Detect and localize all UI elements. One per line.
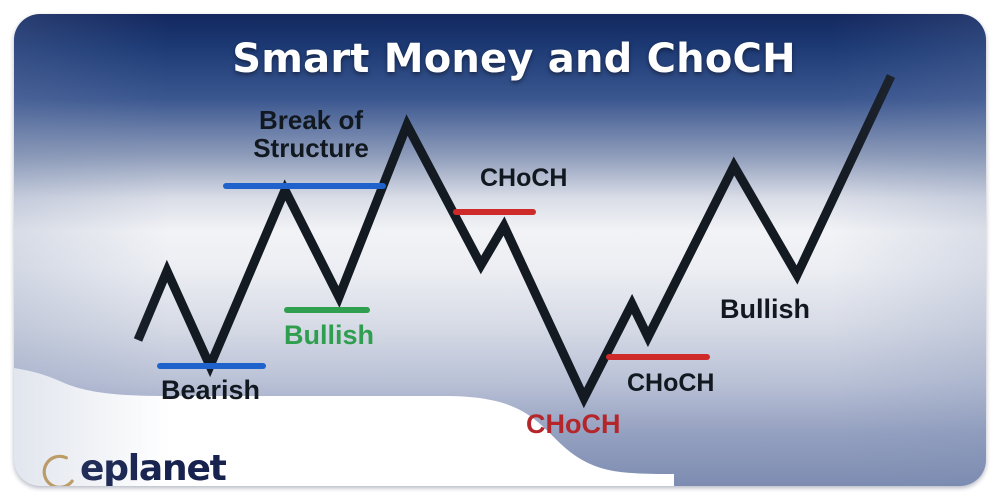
label-choch-1: CHoCH <box>480 165 568 192</box>
label-bullish-green: Bullish <box>284 321 374 350</box>
page-title: Smart Money and ChoCH <box>14 36 986 82</box>
label-bearish: Bearish <box>161 376 260 405</box>
label-choch-3: CHoCH <box>627 370 715 397</box>
label-break-of-structure: Break of Structure <box>236 107 386 162</box>
eplanet-wordmark: eplanet <box>80 448 226 486</box>
label-break-of-structure-line1: Break of <box>259 105 363 135</box>
structure-level-markers <box>160 186 707 366</box>
price-action-chart <box>14 14 986 486</box>
label-choch-2: CHoCH <box>526 410 621 439</box>
label-break-of-structure-line2: Structure <box>253 133 369 163</box>
eplanet-logo-arc-icon <box>36 451 78 486</box>
screenshot-root: Smart Money and ChoCH Break of Structure… <box>0 0 1000 500</box>
eplanet-logo: eplanet <box>36 451 206 486</box>
label-bullish-dark: Bullish <box>720 295 810 324</box>
infographic-card: Smart Money and ChoCH Break of Structure… <box>14 14 986 486</box>
